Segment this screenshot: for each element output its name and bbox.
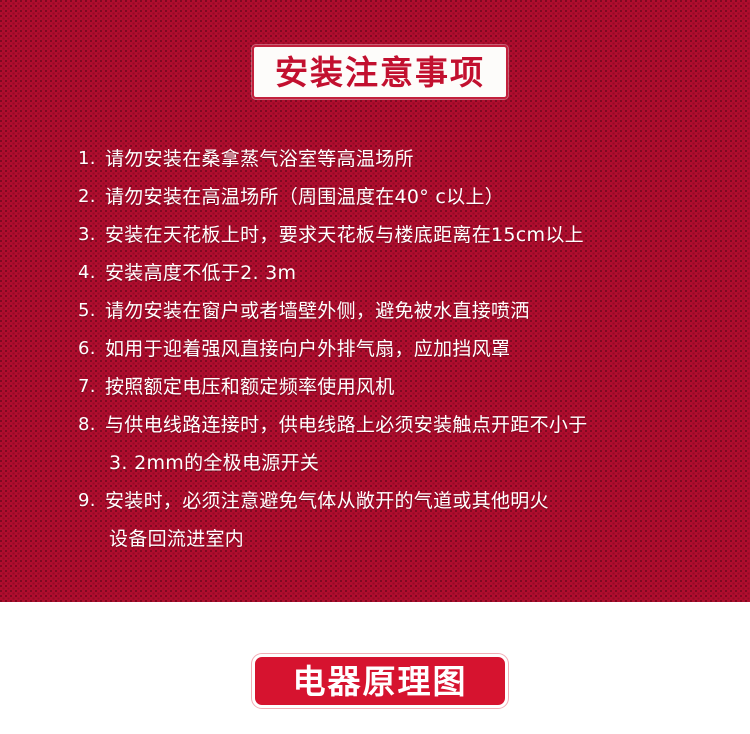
list-item: 1. 请勿安装在桑拿蒸气浴室等高温场所	[78, 140, 718, 178]
list-item-line: 安装高度不低于2. 3m	[105, 254, 718, 292]
list-item-body: 请勿安装在窗户或者墙壁外侧，避免被水直接喷洒	[105, 292, 718, 330]
list-item-body: 按照额定电压和额定频率使用风机	[105, 368, 718, 406]
list-item: 4. 安装高度不低于2. 3m	[78, 254, 718, 292]
footer-banner: 电器原理图	[252, 654, 508, 708]
list-item-line: 设备回流进室内	[105, 520, 718, 558]
list-item-number: 7.	[78, 368, 105, 406]
page-title: 安装注意事项	[275, 56, 485, 89]
list-item: 9. 安装时，必须注意避免气体从敞开的气道或其他明火 设备回流进室内	[78, 482, 718, 558]
list-item-body: 安装高度不低于2. 3m	[105, 254, 718, 292]
list-item-line: 按照额定电压和额定频率使用风机	[105, 368, 718, 406]
list-item-line: 请勿安装在窗户或者墙壁外侧，避免被水直接喷洒	[105, 292, 718, 330]
list-item-body: 安装在天花板上时，要求天花板与楼底距离在15cm以上	[105, 216, 718, 254]
list-item: 7. 按照额定电压和额定频率使用风机	[78, 368, 718, 406]
list-item-body: 请勿安装在高温场所（周围温度在40° c以上）	[105, 178, 718, 216]
list-item-number: 6.	[78, 330, 105, 368]
footer-banner-label: 电器原理图	[293, 665, 468, 698]
list-item-line: 如用于迎着强风直接向户外排气扇，应加挡风罩	[105, 330, 718, 368]
notice-list: 1. 请勿安装在桑拿蒸气浴室等高温场所 2. 请勿安装在高温场所（周围温度在40…	[78, 140, 718, 558]
list-item: 5. 请勿安装在窗户或者墙壁外侧，避免被水直接喷洒	[78, 292, 718, 330]
list-item-body: 请勿安装在桑拿蒸气浴室等高温场所	[105, 140, 718, 178]
list-item-line: 请勿安装在桑拿蒸气浴室等高温场所	[105, 140, 718, 178]
list-item-number: 2.	[78, 178, 105, 216]
list-item-line: 与供电线路连接时，供电线路上必须安装触点开距不小于	[105, 406, 718, 444]
list-item-line: 请勿安装在高温场所（周围温度在40° c以上）	[105, 178, 718, 216]
list-item-line: 安装在天花板上时，要求天花板与楼底距离在15cm以上	[105, 216, 718, 254]
list-item: 8. 与供电线路连接时，供电线路上必须安装触点开距不小于 3. 2mm的全极电源…	[78, 406, 718, 482]
list-item-body: 安装时，必须注意避免气体从敞开的气道或其他明火 设备回流进室内	[105, 482, 718, 558]
list-item-number: 8.	[78, 406, 105, 444]
list-item: 3. 安装在天花板上时，要求天花板与楼底距离在15cm以上	[78, 216, 718, 254]
list-item-line: 安装时，必须注意避免气体从敞开的气道或其他明火	[105, 482, 718, 520]
list-item-body: 与供电线路连接时，供电线路上必须安装触点开距不小于 3. 2mm的全极电源开关	[105, 406, 718, 482]
list-item-number: 1.	[78, 140, 105, 178]
list-item-body: 如用于迎着强风直接向户外排气扇，应加挡风罩	[105, 330, 718, 368]
notice-panel: 安装注意事项 1. 请勿安装在桑拿蒸气浴室等高温场所 2. 请勿安装在高温场所（…	[0, 0, 750, 602]
list-item-line: 3. 2mm的全极电源开关	[105, 444, 718, 482]
section-title-box: 安装注意事项	[252, 45, 508, 99]
list-item-number: 9.	[78, 482, 105, 520]
list-item: 6. 如用于迎着强风直接向户外排气扇，应加挡风罩	[78, 330, 718, 368]
list-item: 2. 请勿安装在高温场所（周围温度在40° c以上）	[78, 178, 718, 216]
product-detail-page: 安装注意事项 1. 请勿安装在桑拿蒸气浴室等高温场所 2. 请勿安装在高温场所（…	[0, 0, 750, 734]
list-item-number: 4.	[78, 254, 105, 292]
list-item-number: 5.	[78, 292, 105, 330]
list-item-number: 3.	[78, 216, 105, 254]
